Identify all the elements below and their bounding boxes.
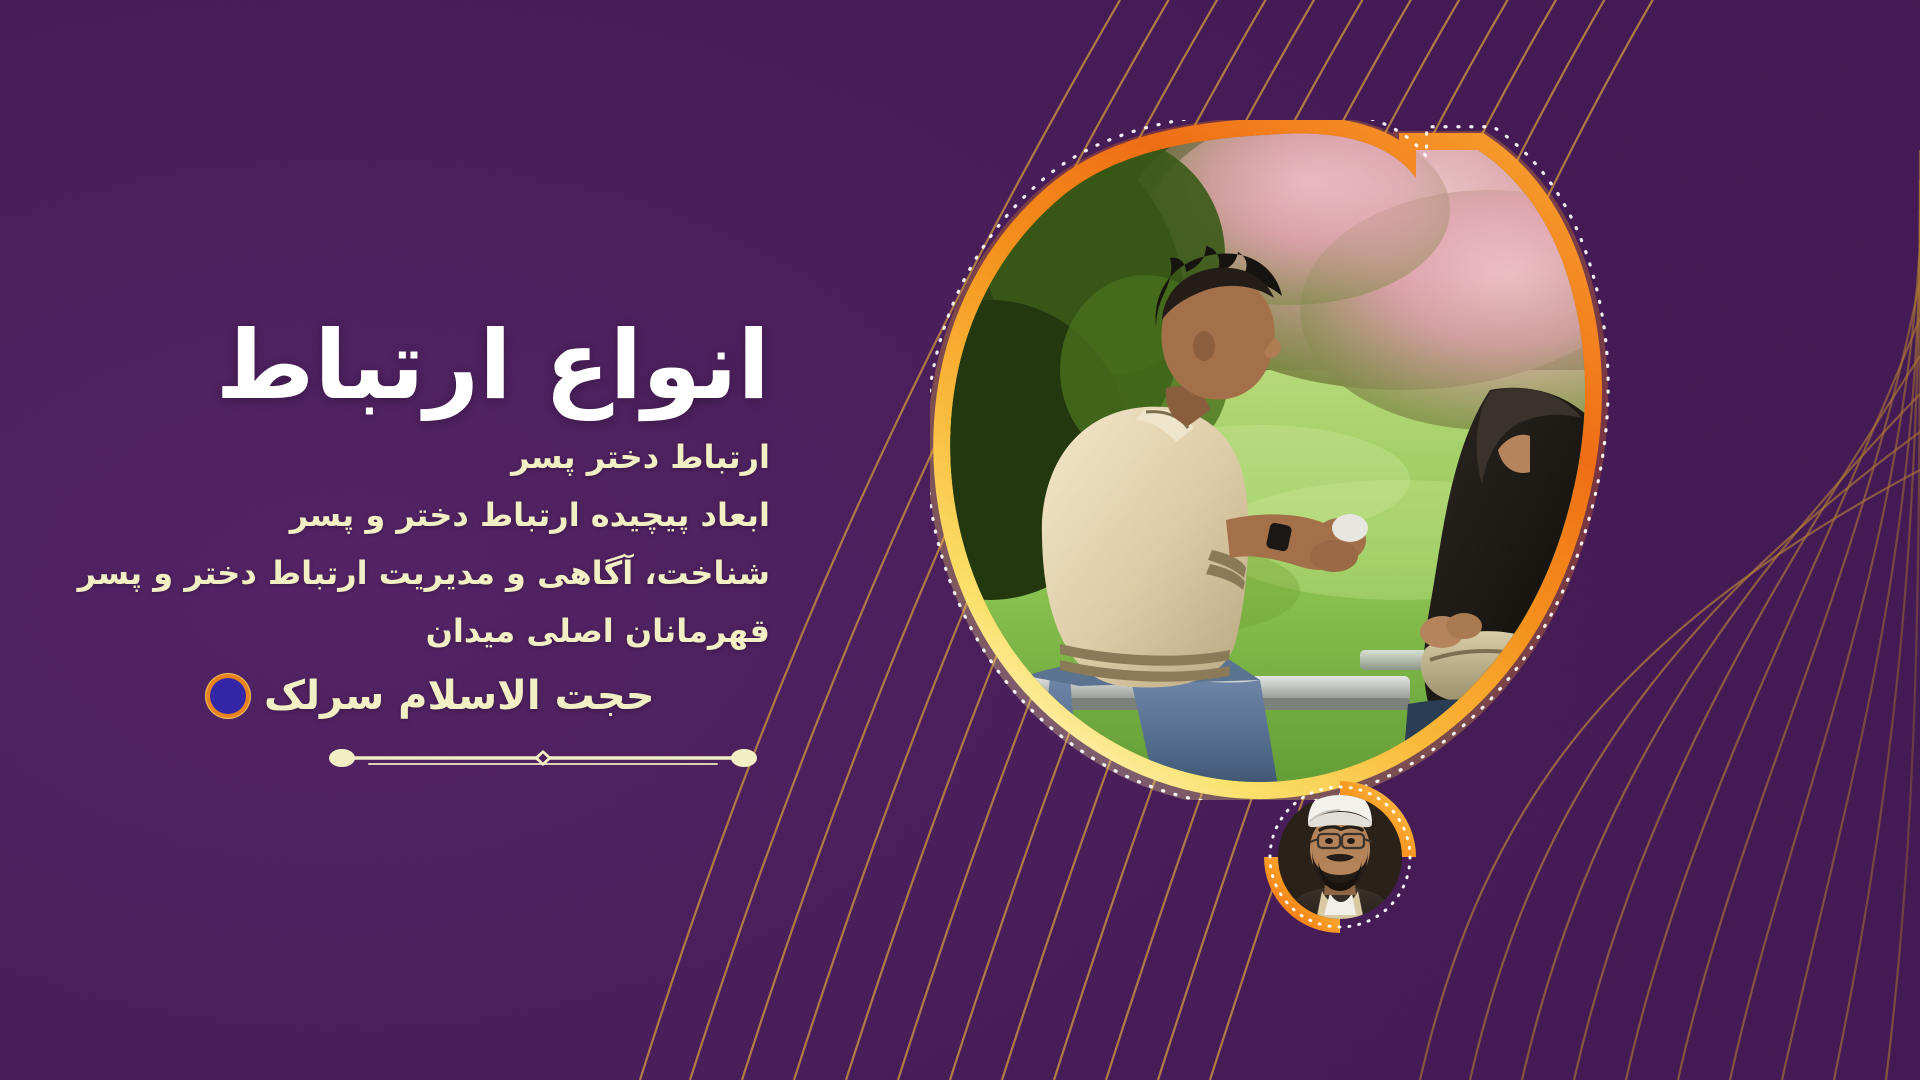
topic-item-2: ابعاد پیچیده ارتباط دختر و پسر <box>210 499 770 531</box>
couple-on-bench-photo <box>930 120 1620 800</box>
speaker-row: حجت الاسلام سرلک <box>210 673 770 719</box>
topic-item-1: ارتباط دختر پسر <box>210 441 770 473</box>
topic-list: ارتباط دختر پسر ابعاد پیچیده ارتباط دختر… <box>210 441 770 647</box>
page-title: انواع ارتباط <box>210 318 770 415</box>
speaker-name: حجت الاسلام سرلک <box>264 673 655 719</box>
text-column: انواع ارتباط ارتباط دختر پسر ابعاد پیچید… <box>210 318 770 771</box>
topic-item-3: شناخت، آگاهی و مدیریت ارتباط دختر و پسر <box>210 557 770 589</box>
bullet-dot-icon <box>210 678 246 714</box>
poster-canvas: انواع ارتباط ارتباط دختر پسر ابعاد پیچید… <box>0 0 1920 1080</box>
speaker-portrait-avatar <box>1258 775 1423 940</box>
ornamental-divider-icon <box>328 745 758 771</box>
topic-item-4: قهرمانان اصلی میدان <box>210 615 770 647</box>
